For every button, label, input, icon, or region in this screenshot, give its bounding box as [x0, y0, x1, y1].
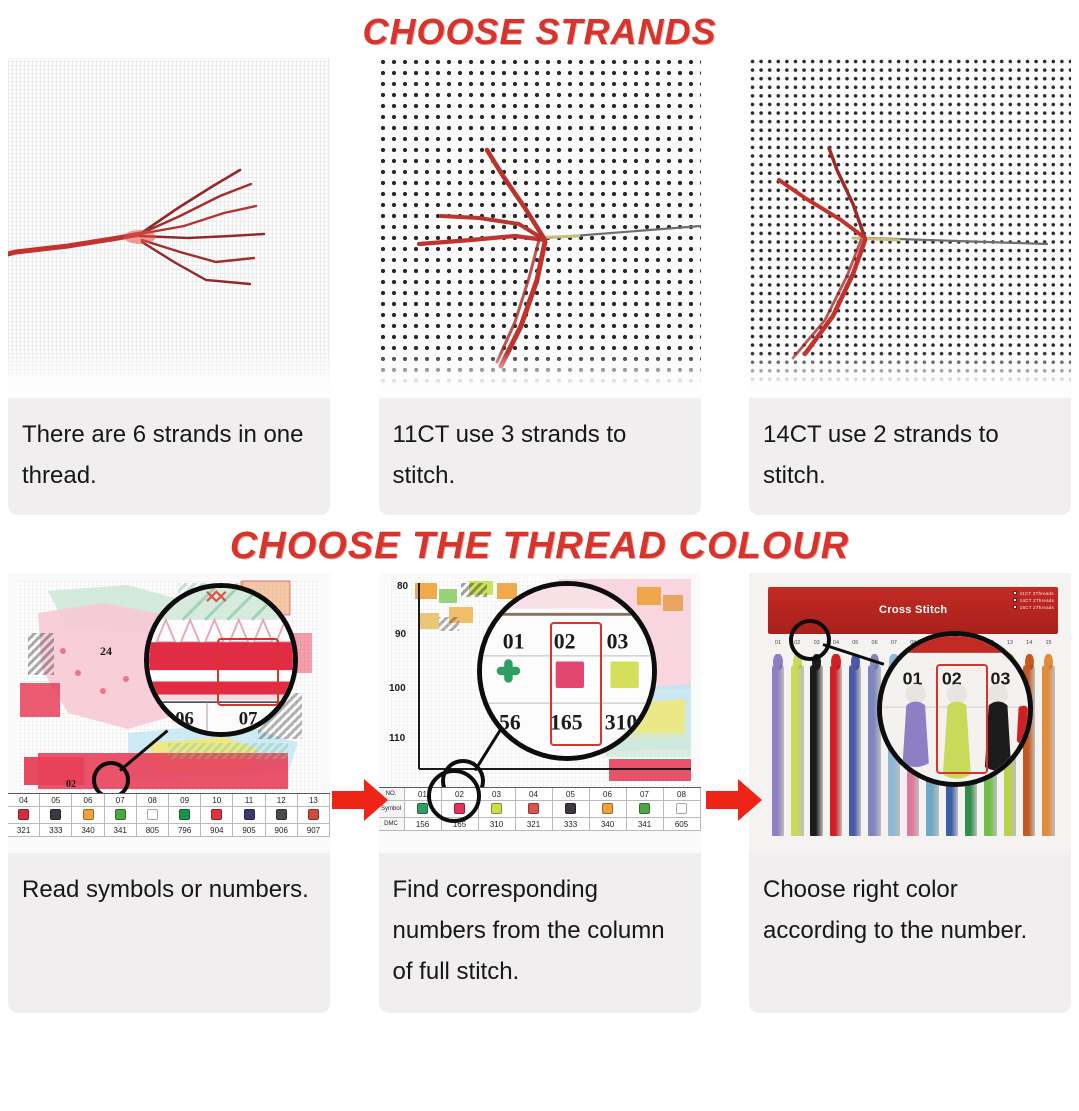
floss-skein [807, 654, 826, 836]
legend-row-symbols [8, 807, 330, 824]
legend-color-swatch [417, 803, 428, 814]
legend-cell-dmc: 904 [201, 824, 233, 837]
legend-cell-num: 06 [72, 794, 104, 807]
legend-cell-dmc: 340 [590, 818, 627, 831]
legend-cell-num: 11 [233, 794, 265, 807]
legend-cell-dmc: 156 [405, 818, 442, 831]
magnified-thread-highlight [936, 664, 988, 774]
legend-color-swatch [83, 809, 94, 820]
legend-cell-num: 07 [627, 788, 664, 801]
legend-cell-num: 06 [590, 788, 627, 801]
photo-thread-card: Cross Stitch 11CT 3Threads14CT 2Threads1… [749, 573, 1071, 853]
svg-text:02: 02 [66, 779, 76, 790]
svg-text:03: 03 [606, 629, 628, 653]
thread-strands-illustration [8, 58, 330, 398]
legend-color-swatch [676, 803, 687, 814]
thread-count-option[interactable]: 14CT 2Threads [1013, 598, 1054, 603]
thread-count-option-label: 11CT 3Threads [1020, 591, 1054, 596]
legend-cell-sym [169, 807, 201, 824]
legend-cell-sym [664, 801, 701, 818]
skein-body [772, 665, 784, 836]
section-title-choose-strands: CHOOSE STRANDS [0, 0, 1079, 58]
photo-bottom-fade [379, 352, 701, 398]
colour-row: 24 02 [0, 573, 1079, 1013]
photo-bottom-fade [749, 352, 1071, 398]
legend-color-swatch [565, 803, 576, 814]
card-11ct: 11CT use 3 strands to stitch. [379, 58, 701, 515]
legend-row-label: NO. [379, 788, 405, 801]
magnified-highlight-box [217, 638, 279, 706]
legend-row-numbers: 04050607080910111213 [8, 794, 330, 807]
needle-and-three-strands-illustration [379, 58, 701, 398]
legend-cell-dmc: 341 [627, 818, 664, 831]
legend-cell-sym [233, 807, 265, 824]
section-title-choose-thread-colour: CHOOSE THE THREAD COLOUR [0, 515, 1079, 573]
caption-14ct: 14CT use 2 strands to stitch. [749, 398, 1071, 515]
legend-cell-sym [266, 807, 298, 824]
svg-text:56: 56 [499, 710, 521, 734]
legend-cell-num: 13 [298, 794, 330, 807]
legend-color-swatch [308, 809, 319, 820]
card-14ct: 14CT use 2 strands to stitch. [749, 58, 1071, 515]
legend-cell-dmc: 341 [105, 824, 137, 837]
legend-cell-dmc: 605 [664, 818, 701, 831]
infographic-page: CHOOSE STRANDS There are 6 strands in [0, 0, 1079, 1111]
card-read-symbols: 24 02 [8, 573, 330, 1013]
skein-number: 15 [1039, 640, 1058, 652]
magnifier-lens-threads: 01 02 03 [877, 631, 1033, 787]
legend-cell-dmc: 805 [137, 824, 169, 837]
photo-six-strands [8, 58, 330, 398]
legend-color-swatch [18, 809, 29, 820]
legend-color-swatch [147, 809, 158, 820]
checkbox-icon[interactable] [1013, 598, 1017, 602]
legend-color-swatch [639, 803, 650, 814]
legend-cell-sym [627, 801, 664, 818]
card-six-strands: There are 6 strands in one thread. [8, 58, 330, 515]
magnified-highlight-column [550, 622, 602, 746]
strands-row: There are 6 strands in one thread. 11CT … [0, 58, 1079, 515]
legend-color-swatch [115, 809, 126, 820]
svg-text:310: 310 [604, 710, 637, 734]
legend-cell-sym [40, 807, 72, 824]
legend-cell-num: 03 [479, 788, 516, 801]
thread-card-title: Cross Stitch [879, 604, 947, 616]
legend-row-dmc: 321333340341805796904905906907 [8, 824, 330, 837]
skein-body [1042, 665, 1054, 836]
legend-cell-dmc: 310 [479, 818, 516, 831]
floss-skein [846, 654, 865, 836]
legend-cell-dmc: 333 [40, 824, 72, 837]
legend-cell-num: 10 [201, 794, 233, 807]
svg-text:110: 110 [389, 733, 406, 744]
legend-cell-sym [516, 801, 553, 818]
pattern-chart-mid: 80 90 100 110 [379, 573, 701, 853]
thread-count-option-label: 14CT 2Threads [1020, 598, 1054, 603]
legend-cell-num: 05 [40, 794, 72, 807]
legend-cell-dmc: 905 [233, 824, 265, 837]
caption-11ct: 11CT use 3 strands to stitch. [379, 398, 701, 515]
photo-pattern-chart-numbers: 80 90 100 110 [379, 573, 701, 853]
thread-organizer-card: Cross Stitch 11CT 3Threads14CT 2Threads1… [749, 573, 1071, 853]
legend-cell-num: 04 [8, 794, 40, 807]
legend-cell-num: 12 [266, 794, 298, 807]
card-choose-colour: Cross Stitch 11CT 3Threads14CT 2Threads1… [749, 573, 1071, 1013]
legend-cell-sym [553, 801, 590, 818]
caption-find-numbers: Find corresponding numbers from the colu… [379, 853, 701, 1013]
legend-cell-sym [72, 807, 104, 824]
svg-text:07: 07 [239, 708, 258, 729]
thread-focus-circle [789, 619, 831, 661]
legend-color-swatch [211, 809, 222, 820]
legend-cell-dmc: 907 [298, 824, 330, 837]
legend-focus-circle [427, 769, 481, 823]
svg-text:90: 90 [395, 629, 407, 640]
legend-cell-sym [137, 807, 169, 824]
legend-cell-num: 07 [105, 794, 137, 807]
legend-cell-sym [201, 807, 233, 824]
legend-color-swatch [50, 809, 61, 820]
svg-text:06: 06 [175, 708, 194, 729]
pattern-chart-left: 24 02 [8, 573, 330, 853]
legend-color-swatch [276, 809, 287, 820]
legend-color-swatch [244, 809, 255, 820]
photo-pattern-chart-symbols: 24 02 [8, 573, 330, 853]
legend-cell-dmc: 796 [169, 824, 201, 837]
magnifier-lens-symbols: 06 07 [144, 583, 298, 737]
skein-number: 01 [768, 640, 787, 652]
thread-count-option[interactable]: 16CT 2Threads [1013, 605, 1054, 610]
photo-bottom-fade [8, 352, 330, 398]
legend-cell-sym [479, 801, 516, 818]
floss-skein [826, 654, 845, 836]
skein-body [791, 665, 803, 836]
thread-card-options: 11CT 3Threads14CT 2Threads16CT 2Threads [1013, 591, 1054, 610]
skein-body [810, 665, 822, 836]
legend-cell-dmc: 321 [516, 818, 553, 831]
caption-choose-colour: Choose right color according to the numb… [749, 853, 1071, 1013]
legend-cell-dmc: 340 [72, 824, 104, 837]
floss-skein [768, 654, 787, 836]
legend-cell-dmc: 906 [266, 824, 298, 837]
legend-cell-dmc: 333 [553, 818, 590, 831]
legend-cell-dmc: 321 [8, 824, 40, 837]
legend-row-dmc: DMC156165310321333340341605 [379, 818, 701, 831]
svg-text:24: 24 [100, 644, 112, 658]
card-find-numbers: 80 90 100 110 [379, 573, 701, 1013]
photo-14ct [749, 58, 1071, 398]
needle-and-two-strands-illustration [749, 58, 1071, 398]
chart-legend-left: 04050607080910111213 3213333403418057969… [8, 793, 330, 837]
legend-cell-num: 05 [553, 788, 590, 801]
legend-cell-num: 04 [516, 788, 553, 801]
legend-cell-sym [298, 807, 330, 824]
legend-cell-sym [105, 807, 137, 824]
legend-row-symbols: Symbol [379, 801, 701, 818]
legend-cell-sym [590, 801, 627, 818]
photo-11ct [379, 58, 701, 398]
skein-body [849, 665, 861, 836]
svg-text:01: 01 [502, 629, 524, 653]
legend-color-swatch [491, 803, 502, 814]
svg-text:80: 80 [397, 581, 409, 592]
legend-color-swatch [602, 803, 613, 814]
floss-skein [788, 654, 807, 836]
skein-number: 05 [846, 640, 865, 652]
caption-read-symbols: Read symbols or numbers. [8, 853, 330, 1013]
skein-body [830, 665, 842, 836]
legend-cell-num: 08 [664, 788, 701, 801]
legend-row-label: Symbol [379, 801, 405, 818]
thread-count-option[interactable]: 11CT 3Threads [1013, 591, 1054, 596]
legend-cell-num: 09 [169, 794, 201, 807]
checkbox-icon[interactable] [1013, 591, 1017, 595]
thread-count-option-label: 16CT 2Threads [1020, 605, 1054, 610]
checkbox-icon[interactable] [1013, 605, 1017, 609]
magnifier-lens-numbers: 01 02 03 56 165 310 [477, 581, 657, 761]
floss-skein [1039, 654, 1058, 836]
legend-cell-num: 08 [137, 794, 169, 807]
legend-color-swatch [179, 809, 190, 820]
legend-color-swatch [528, 803, 539, 814]
legend-row-label: DMC [379, 818, 405, 831]
caption-six-strands: There are 6 strands in one thread. [8, 398, 330, 515]
svg-text:100: 100 [389, 683, 406, 694]
legend-cell-sym [8, 807, 40, 824]
